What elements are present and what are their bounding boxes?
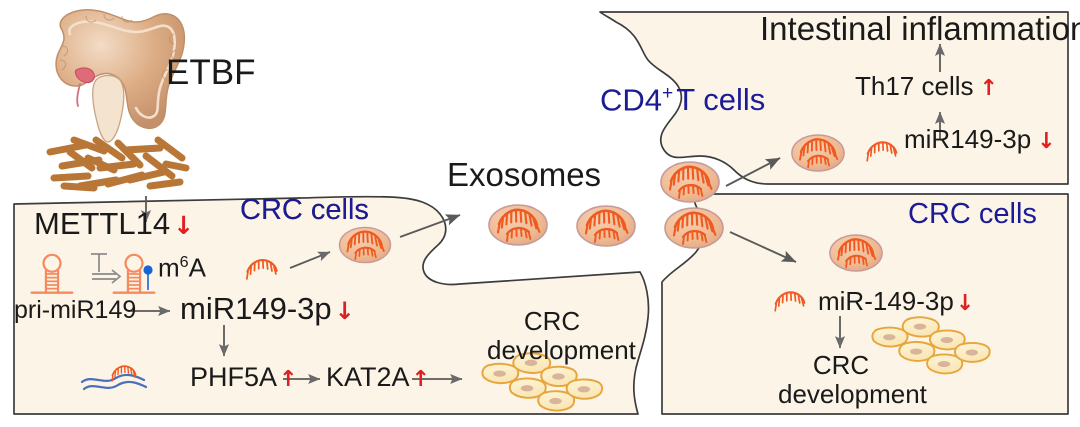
panel-title-crc-left-text: CRC cells <box>240 196 369 225</box>
crc-development-label-right: CRC development <box>778 352 904 407</box>
mir149-down-arrow-right: ↓ <box>956 291 974 316</box>
exosome-in-cd4-panel <box>792 135 844 171</box>
exosome-in-crc-left <box>339 227 390 262</box>
mir149-down-arrow-cd4: ↓ <box>1037 129 1055 154</box>
mettl14-down-arrow: ↓ <box>173 211 194 240</box>
pri-mir149-label: pri-miR149 <box>14 298 136 323</box>
mir149-down-arrow-left: ↓ <box>335 297 355 325</box>
kat2a-label: KAT2A↑ <box>326 364 430 391</box>
etbf-label: ETBF <box>166 55 255 90</box>
panel-title-crc-right: CRC cells <box>908 200 1037 229</box>
exosomes-label: Exosomes <box>447 158 601 191</box>
intestinal-inflammation-label: Intestinal inflammation <box>760 12 1080 45</box>
exosome-free-2 <box>577 206 635 246</box>
m6a-label: m6A <box>158 254 206 281</box>
crc-development-label-left: CRC development <box>487 308 617 363</box>
cd4-t-cells-label: CD4+T cells <box>600 84 765 115</box>
mettl14-label: METTL14↓ <box>34 208 194 239</box>
mir-149-3p-label-right: miR-149-3p↓ <box>818 288 974 315</box>
pathway-figure: ETBF METTL14↓ CRC cells CRC cells m6A pr… <box>0 0 1080 427</box>
th17-cells-label: Th17 cells↑ <box>855 73 998 100</box>
kat2a-up-arrow: ↑ <box>412 367 430 392</box>
phf5a-up-arrow: ↑ <box>279 367 297 392</box>
exosome-free-4 <box>665 208 723 248</box>
exosome-free-1 <box>489 205 547 245</box>
exosome-free-3 <box>661 162 719 202</box>
mir149-3p-label-left: miR149-3p↓ <box>180 293 355 324</box>
mir149-3p-label-cd4: miR149-3p↓ <box>904 126 1056 153</box>
th17-up-arrow: ↑ <box>980 76 998 101</box>
rod-bacteria-cluster-icon <box>50 140 186 188</box>
phf5a-label: PHF5A↑ <box>190 364 297 391</box>
exosome-in-crc-right <box>830 235 882 271</box>
